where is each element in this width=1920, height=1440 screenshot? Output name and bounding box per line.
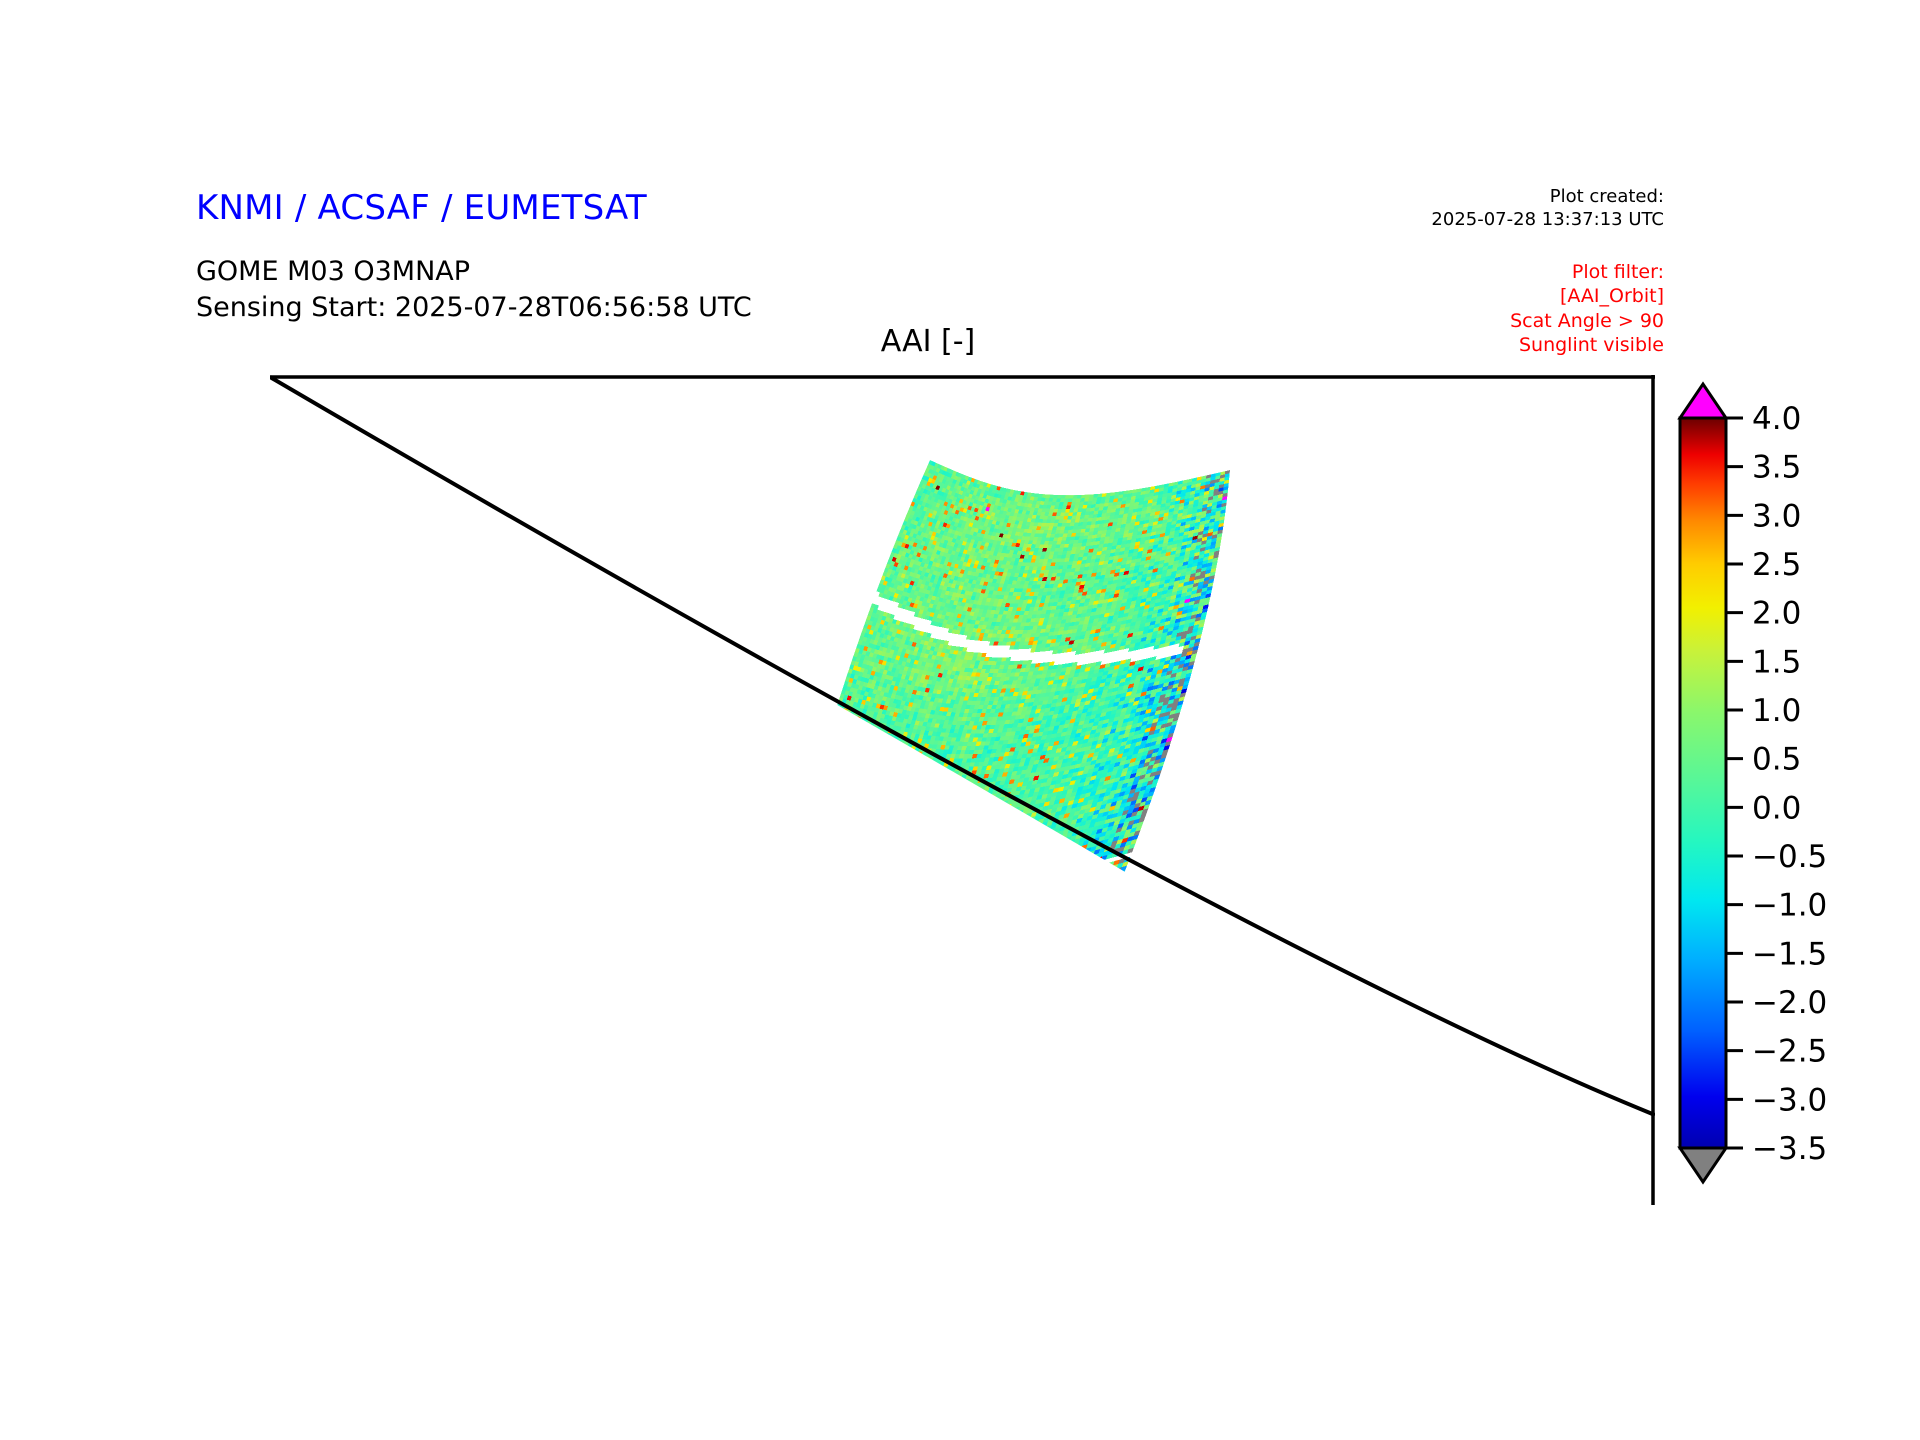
colorbar-under-arrow: [1680, 1148, 1726, 1182]
colorbar-svg: 4.03.53.02.52.01.51.00.50.0−0.5−1.0−1.5−…: [1672, 378, 1872, 1238]
colorbar-tick-labels: 4.03.53.02.52.01.51.00.50.0−0.5−1.0−1.5−…: [1752, 401, 1827, 1167]
colorbar-tick-label: −3.5: [1752, 1131, 1827, 1167]
page-title: AAI [-]: [0, 324, 1888, 359]
header-sensing-start: Sensing Start: 2025-07-28T06:56:58 UTC: [196, 292, 752, 323]
colorbar-tick-label: 3.5: [1752, 450, 1801, 486]
plot-filter-label: Plot filter:: [1510, 260, 1664, 284]
plot-filter-name: [AAI_Orbit]: [1510, 284, 1664, 308]
header-product: GOME M03 O3MNAP: [196, 256, 470, 287]
colorbar: 4.03.53.02.52.01.51.00.50.0−0.5−1.0−1.5−…: [1672, 378, 1872, 1238]
plot-created-label: Plot created:: [1431, 185, 1664, 208]
colorbar-tick-label: 2.5: [1752, 547, 1801, 583]
map-plot-area: [270, 375, 1655, 1205]
colorbar-tick-label: −0.5: [1752, 839, 1827, 875]
colorbar-tick-label: −1.5: [1752, 936, 1827, 972]
plot-page: KNMI / ACSAF / EUMETSAT GOME M03 O3MNAP …: [0, 0, 1920, 1440]
colorbar-ticks: [1726, 418, 1743, 1148]
colorbar-tick-label: 2.0: [1752, 596, 1801, 632]
colorbar-tick-label: 0.0: [1752, 790, 1801, 826]
map-axes: [270, 375, 1655, 1205]
colorbar-bar: [1680, 418, 1726, 1148]
colorbar-tick-label: 3.0: [1752, 498, 1801, 534]
colorbar-tick-label: 1.0: [1752, 693, 1801, 729]
colorbar-over-arrow: [1680, 384, 1726, 418]
colorbar-tick-label: −2.5: [1752, 1034, 1827, 1070]
colorbar-tick-label: −2.0: [1752, 985, 1827, 1021]
colorbar-tick-label: −1.0: [1752, 888, 1827, 924]
plot-created-block: Plot created: 2025-07-28 13:37:13 UTC: [1431, 185, 1664, 231]
colorbar-tick-label: 1.5: [1752, 644, 1801, 680]
colorbar-tick-label: 4.0: [1752, 401, 1801, 437]
colorbar-tick-label: −3.0: [1752, 1082, 1827, 1118]
colorbar-tick-label: 0.5: [1752, 742, 1801, 778]
plot-created-value: 2025-07-28 13:37:13 UTC: [1431, 208, 1664, 231]
header-organisation: KNMI / ACSAF / EUMETSAT: [196, 188, 647, 228]
